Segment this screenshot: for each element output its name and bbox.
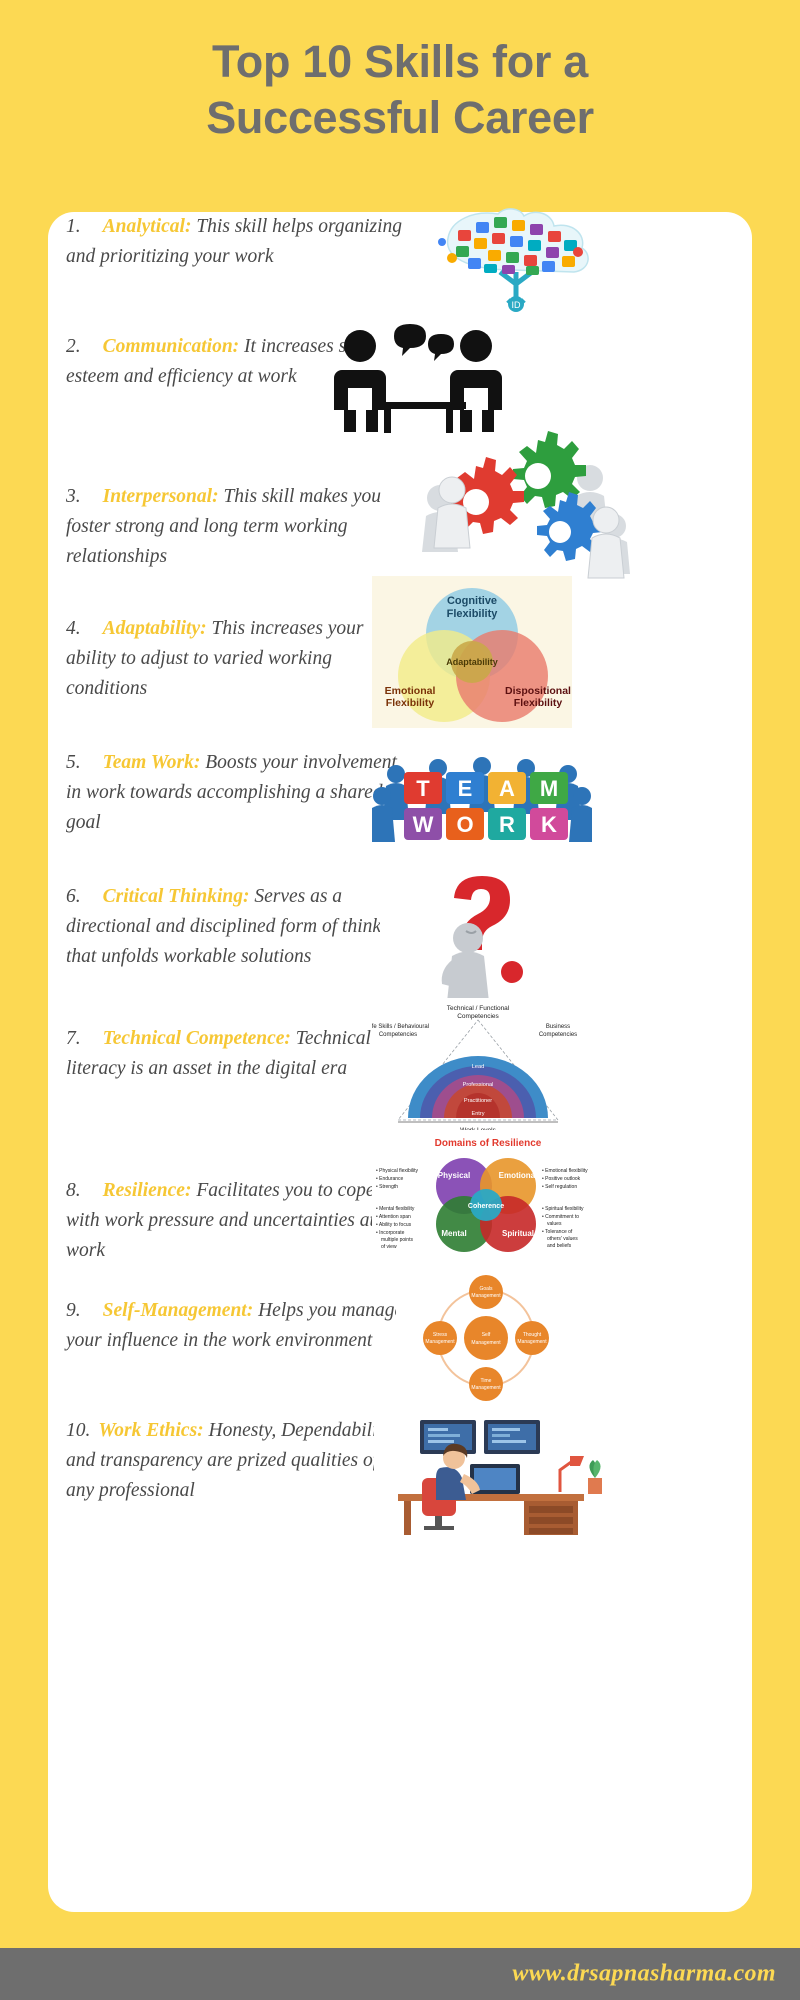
skill-name-1: Analytical:: [103, 216, 192, 237]
skill-number-1: 1.: [66, 216, 81, 237]
skill-text-9: 9.Self-Management: Helps you manage your…: [66, 1296, 406, 1356]
svg-text:Life Skills / Behavioural: Life Skills / Behavioural: [372, 1024, 429, 1030]
skill-name-10: Work Ethics:: [98, 1420, 203, 1441]
svg-text:T: T: [416, 776, 430, 801]
desk-worker-illustration: [374, 1406, 604, 1538]
svg-text:Flexibility: Flexibility: [447, 608, 499, 620]
svg-text:others' values: others' values: [547, 1236, 578, 1242]
svg-text:• Endurance: • Endurance: [376, 1176, 404, 1182]
list-item: 9.Self-Management: Helps you manage your…: [48, 1280, 752, 1420]
svg-text:Management: Management: [471, 1385, 501, 1391]
svg-text:Professional: Professional: [463, 1082, 494, 1088]
svg-text:Lead: Lead: [472, 1064, 484, 1070]
gears-teamwork-icon: [378, 424, 648, 584]
svg-text:• Emotional flexibility: • Emotional flexibility: [542, 1168, 588, 1174]
svg-text:Strategic: Strategic: [467, 1046, 489, 1052]
skill-name-9: Self-Management:: [103, 1300, 254, 1321]
svg-text:• Positive outlook: • Positive outlook: [542, 1176, 581, 1182]
svg-text:Practitioner: Practitioner: [464, 1098, 492, 1104]
skill-number-8: 8.: [66, 1180, 81, 1201]
skill-text-8: 8.Resilience: Facilitates you to cope up…: [66, 1176, 406, 1266]
list-item: 10.Work Ethics: Honesty, Dependability, …: [48, 1402, 752, 1552]
skill-text-5: 5.Team Work: Boosts your involvement in …: [66, 748, 406, 838]
skill-number-4: 4.: [66, 618, 81, 639]
svg-text:Domains of Resilience: Domains of Resilience: [435, 1138, 542, 1149]
svg-text:• Self regulation: • Self regulation: [542, 1184, 577, 1190]
skill-text-7: 7.Technical Competence: Technical litera…: [66, 1024, 406, 1084]
svg-text:Business: Business: [546, 1024, 570, 1030]
svg-text:Goals: Goals: [479, 1286, 493, 1292]
infographic-page: Top 10 Skills for a Successful Career 1.…: [0, 0, 800, 2000]
page-title-line-2: Successful Career: [0, 90, 800, 146]
svg-text:Management: Management: [471, 1293, 501, 1299]
svg-text:Competencies: Competencies: [539, 1032, 577, 1038]
svg-text:Physical: Physical: [438, 1171, 470, 1180]
svg-text:Emotional: Emotional: [499, 1171, 538, 1180]
svg-text:Competencies: Competencies: [457, 1013, 499, 1020]
skill-number-2: 2.: [66, 336, 81, 357]
svg-text:• Attention span: • Attention span: [376, 1214, 411, 1220]
svg-text:Management: Management: [471, 1340, 501, 1346]
list-item: 7.Technical Competence: Technical litera…: [48, 1012, 752, 1148]
skill-name-8: Resilience:: [103, 1180, 192, 1201]
svg-text:K: K: [541, 812, 557, 837]
footer-website[interactable]: www.drsapnasharma.com: [512, 1961, 776, 1988]
skill-name-6: Critical Thinking:: [103, 886, 250, 907]
list-item: 5.Team Work: Boosts your involvement in …: [48, 742, 752, 882]
footer-bar: www.drsapnasharma.com: [0, 1948, 800, 2000]
svg-text:Technical / Functional: Technical / Functional: [447, 1005, 510, 1012]
svg-text:A: A: [499, 776, 515, 801]
skill-text-4: 4.Adaptability: This increases your abil…: [66, 614, 406, 704]
svg-text:Dispositional: Dispositional: [505, 685, 571, 697]
svg-text:Spiritual: Spiritual: [502, 1229, 534, 1238]
svg-text:multiple points: multiple points: [381, 1237, 413, 1243]
svg-text:W: W: [413, 812, 434, 837]
skill-number-3: 3.: [66, 486, 81, 507]
skills-card: 1.Analytical: This skill helps organizin…: [48, 212, 752, 1912]
skill-name-3: Interpersonal:: [103, 486, 219, 507]
svg-text:Management: Management: [425, 1339, 455, 1345]
svg-text:Mental: Mental: [441, 1229, 466, 1238]
svg-text:• Strength: • Strength: [376, 1184, 398, 1190]
svg-text:• Ability to focus: • Ability to focus: [376, 1222, 412, 1228]
svg-text:Flexibility: Flexibility: [386, 697, 435, 709]
teamwork-puzzle-icon: T E A M W O R K: [372, 734, 592, 864]
self-management-circles-diagram: Self Management Goals Management Thought…: [396, 1274, 576, 1402]
skill-number-5: 5.: [66, 752, 81, 773]
skill-name-5: Team Work:: [103, 752, 201, 773]
page-title: Top 10 Skills for a Successful Career: [0, 34, 800, 146]
list-item: 4.Adaptability: This increases your abil…: [48, 602, 752, 750]
svg-text:Coherence: Coherence: [468, 1203, 504, 1210]
question-mark-figure-icon: [380, 868, 580, 1008]
skill-text-6: 6.Critical Thinking: Serves as a directi…: [66, 882, 406, 972]
svg-text:• Commitment to: • Commitment to: [542, 1214, 579, 1220]
svg-text:E: E: [458, 776, 473, 801]
svg-text:Thought: Thought: [523, 1332, 542, 1338]
skill-name-2: Communication:: [103, 336, 240, 357]
adaptability-venn-diagram: Cognitive Flexibility Adaptability Emoti…: [372, 576, 572, 728]
skill-number-7: 7.: [66, 1028, 81, 1049]
svg-text:• Mental flexibility: • Mental flexibility: [376, 1206, 415, 1212]
svg-text:Competencies: Competencies: [379, 1032, 417, 1038]
svg-text:and beliefs: and beliefs: [547, 1243, 572, 1249]
svg-text:• Physical flexibility: • Physical flexibility: [376, 1168, 419, 1174]
skill-number-6: 6.: [66, 886, 81, 907]
svg-text:Self: Self: [482, 1332, 491, 1338]
svg-text:Stress: Stress: [433, 1332, 448, 1338]
skill-name-4: Adaptability:: [103, 618, 207, 639]
skill-number-9: 9.: [66, 1300, 81, 1321]
svg-text:Flexibility: Flexibility: [514, 697, 563, 709]
svg-text:Entry: Entry: [471, 1111, 484, 1117]
svg-text:R: R: [499, 812, 515, 837]
svg-text:Cognitive: Cognitive: [447, 595, 497, 607]
svg-text:• Spiritual flexibility: • Spiritual flexibility: [542, 1206, 584, 1212]
skill-number-10: 10.: [66, 1420, 90, 1441]
skill-text-10: 10.Work Ethics: Honesty, Dependability, …: [66, 1416, 406, 1506]
svg-text:Adaptability: Adaptability: [446, 657, 498, 667]
svg-text:of view: of view: [381, 1244, 397, 1250]
svg-text:values: values: [547, 1221, 562, 1227]
svg-text:M: M: [540, 776, 558, 801]
svg-text:• Tolerance of: • Tolerance of: [542, 1229, 573, 1235]
skill-name-7: Technical Competence:: [103, 1028, 291, 1049]
svg-text:O: O: [456, 812, 473, 837]
brain-network-icon: ID: [396, 200, 646, 320]
svg-text:Time: Time: [481, 1378, 492, 1384]
svg-text:Management: Management: [517, 1339, 547, 1345]
skill-text-1: 1.Analytical: This skill helps organizin…: [66, 212, 406, 272]
svg-text:• Incorporate: • Incorporate: [376, 1230, 405, 1236]
competency-dome-diagram: Technical / Functional Competencies Life…: [372, 998, 584, 1138]
svg-text:Emotional: Emotional: [385, 685, 436, 697]
svg-text:ID: ID: [512, 300, 522, 310]
list-item: 8.Resilience: Facilitates you to cope up…: [48, 1142, 752, 1288]
page-title-line-1: Top 10 Skills for a: [0, 34, 800, 90]
domains-of-resilience-diagram: Domains of Resilience Physical Emotional…: [372, 1130, 604, 1270]
skill-text-3: 3.Interpersonal: This skill makes you fo…: [66, 482, 406, 572]
